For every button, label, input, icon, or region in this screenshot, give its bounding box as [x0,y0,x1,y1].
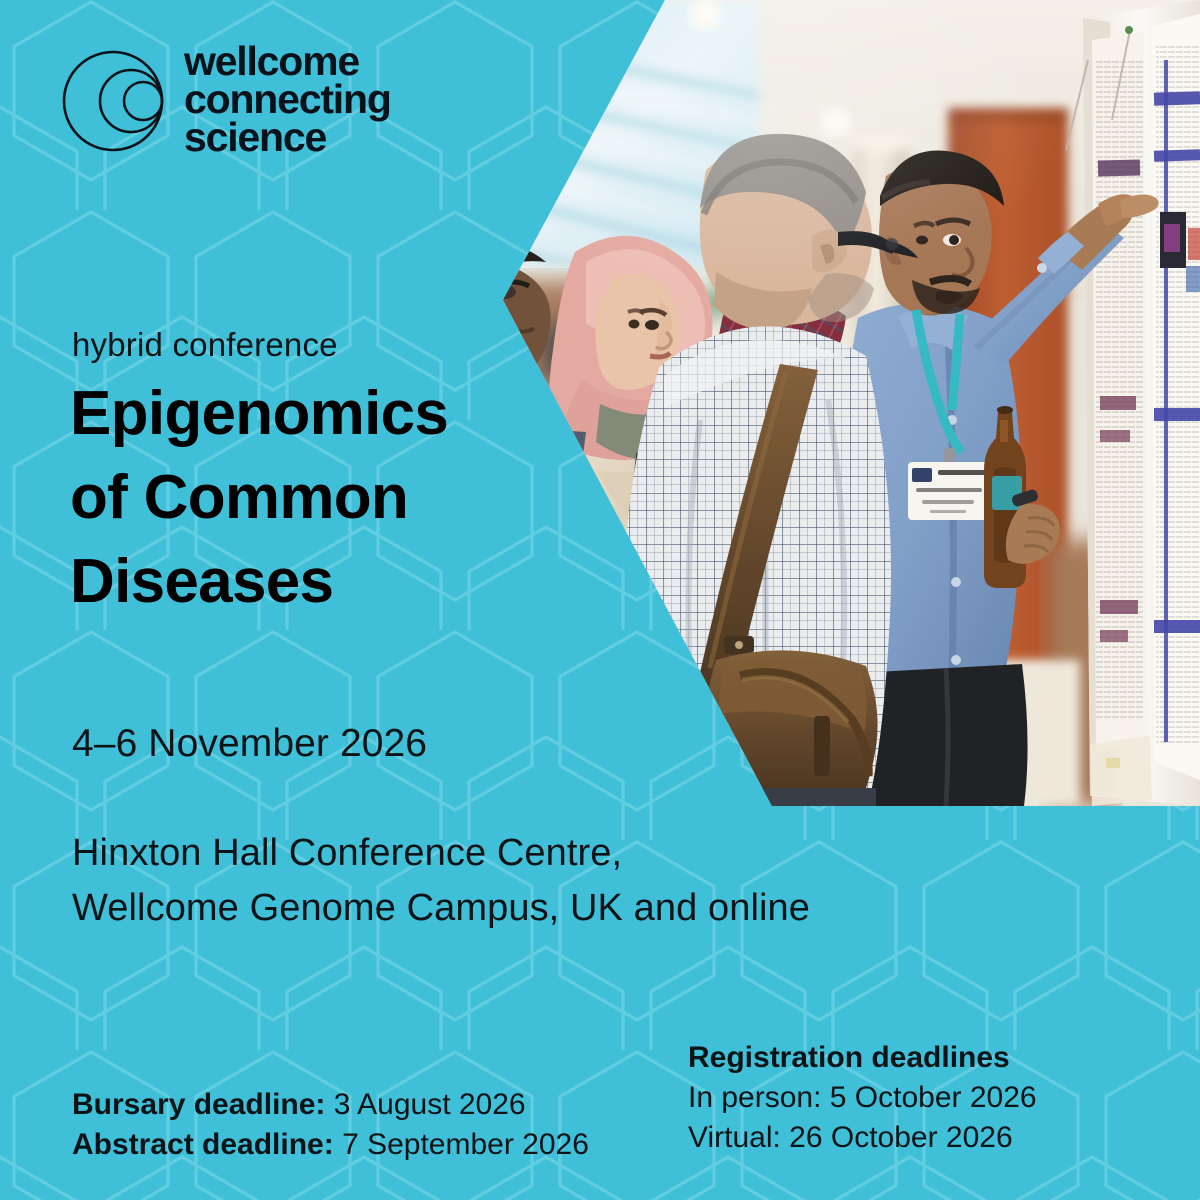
in-person-deadline-row: In person: 5 October 2026 [688,1078,1037,1118]
event-title-line-1: Epigenomics [70,372,448,456]
virtual-deadline-label: Virtual: [688,1121,781,1154]
logo-line-1: wellcome [184,42,391,80]
event-dates: 4–6 November 2026 [72,722,427,766]
bursary-deadline-label: Bursary deadline: [72,1088,325,1121]
event-venue: Hinxton Hall Conference Centre, Wellcome… [72,826,810,936]
virtual-deadline-value: 26 October 2026 [789,1121,1013,1154]
bursary-deadline-row: Bursary deadline: 3 August 2026 [72,1085,589,1125]
virtual-deadline-row: Virtual: 26 October 2026 [688,1118,1037,1158]
abstract-deadline-value: 7 September 2026 [342,1128,589,1161]
registration-deadlines: Registration deadlines In person: 5 Octo… [688,1038,1037,1158]
event-venue-line-1: Hinxton Hall Conference Centre, [72,826,810,881]
logo-line-3: science [184,118,391,156]
in-person-deadline-label: In person: [688,1081,821,1114]
logo-wordmark: wellcome connecting science [184,42,391,156]
bursary-deadline-value: 3 August 2026 [334,1088,526,1121]
logo-line-2: connecting [184,80,391,118]
event-title: Epigenomics of Common Diseases [70,372,448,624]
conference-promo-poster: wellcome connecting science hybrid confe… [0,0,1200,1200]
three-nested-circles-icon [62,48,170,156]
submission-deadlines: Bursary deadline: 3 August 2026 Abstract… [72,1085,589,1165]
event-title-line-2: of Common [70,456,448,540]
in-person-deadline-value: 5 October 2026 [830,1081,1037,1114]
event-kicker: hybrid conference [72,326,338,364]
event-venue-line-2: Wellcome Genome Campus, UK and online [72,881,810,936]
abstract-deadline-label: Abstract deadline: [72,1128,334,1161]
event-title-line-3: Diseases [70,540,448,624]
registration-deadlines-heading: Registration deadlines [688,1038,1037,1078]
abstract-deadline-row: Abstract deadline: 7 September 2026 [72,1125,589,1165]
